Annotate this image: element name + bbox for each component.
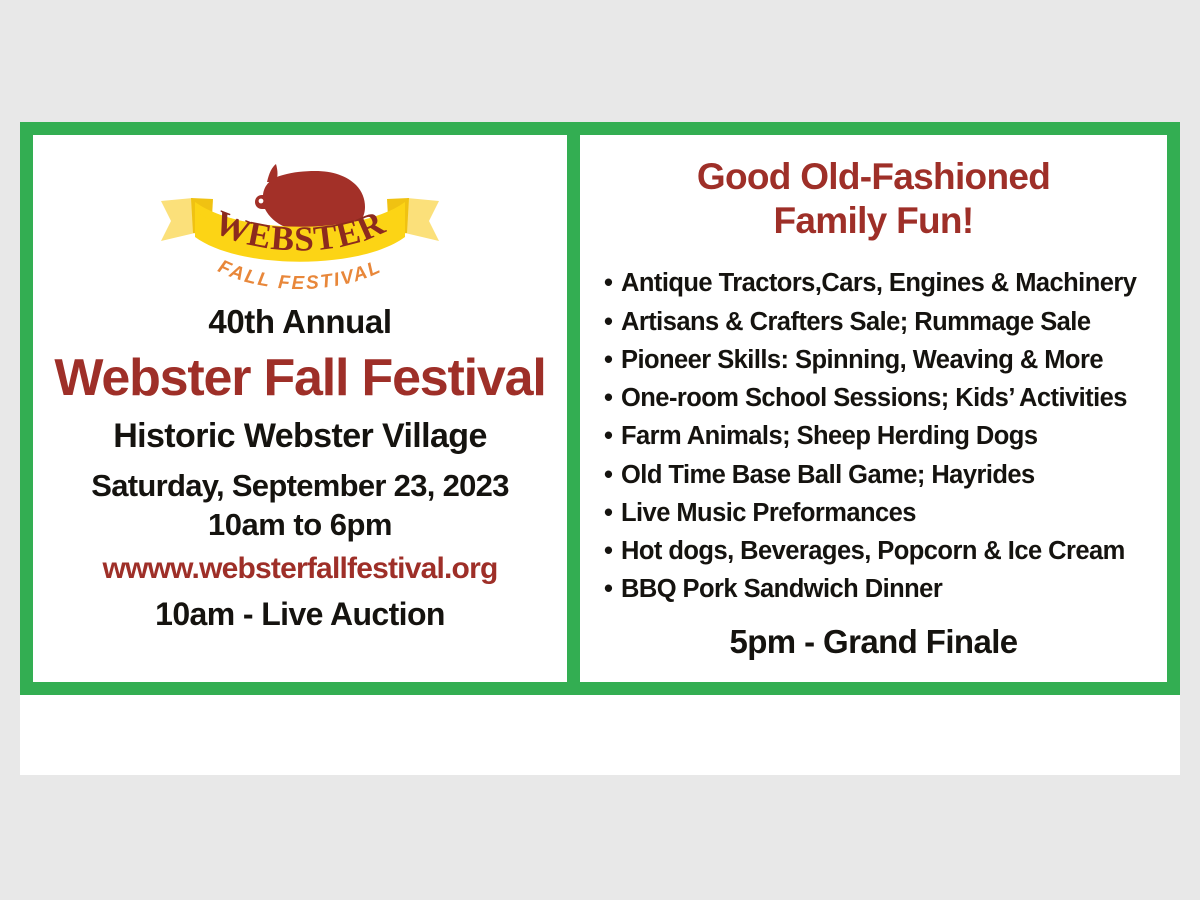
venue-label: Historic Webster Village [113,419,487,455]
list-item-label: One-room School Sessions; Kids’ Activiti… [621,384,1127,412]
list-item-label: Old Time Base Ball Game; Hayrides [621,461,1035,489]
list-item-label: Antique Tractors,Cars, Engines & Machine… [621,269,1136,297]
bullet-dot-icon: • [604,570,612,608]
festival-title: Webster Fall Festival [54,351,545,406]
flyer-left-panel: WEBSTER FALL FESTIVAL 40th Annual Webste… [33,135,567,682]
svg-text:FALL FESTIVAL: FALL FESTIVAL [215,256,385,294]
right-panel-headline: Good Old-Fashioned Family Fun! [592,155,1155,242]
bullet-dot-icon: • [604,341,612,379]
list-item: • Hot dogs, Beverages, Popcorn & Ice Cre… [602,532,1155,570]
attractions-list: • Antique Tractors,Cars, Engines & Machi… [592,264,1155,608]
festival-flyer: WEBSTER FALL FESTIVAL 40th Annual Webste… [20,122,1180,695]
bullet-dot-icon: • [604,303,612,341]
event-date: Saturday, September 23, 2023 [91,470,509,503]
live-auction-note: 10am - Live Auction [155,598,445,632]
list-item-label: Farm Animals; Sheep Herding Dogs [621,422,1037,450]
list-item: • Live Music Preformances [602,494,1155,532]
list-item-label: Pioneer Skills: Spinning, Weaving & More [621,346,1103,374]
headline-line-2: Family Fun! [592,199,1155,243]
flyer-right-panel: Good Old-Fashioned Family Fun! • Antique… [580,135,1167,682]
website-link[interactable]: wwww.websterfallfestival.org [103,553,498,585]
list-item: • Pioneer Skills: Spinning, Weaving & Mo… [602,341,1155,379]
list-item: • One-room School Sessions; Kids’ Activi… [602,379,1155,417]
list-item-label: BBQ Pork Sandwich Dinner [621,575,942,603]
event-time: 10am to 6pm [208,509,392,542]
bullet-dot-icon: • [604,532,612,570]
bullet-dot-icon: • [604,494,612,532]
annual-edition-label: 40th Annual [208,305,391,340]
list-item-label: Live Music Preformances [621,499,916,527]
grand-finale-note: 5pm - Grand Finale [592,623,1155,661]
list-item-label: Hot dogs, Beverages, Popcorn & Ice Cream [621,537,1125,565]
headline-line-1: Good Old-Fashioned [592,155,1155,199]
list-item: • Antique Tractors,Cars, Engines & Machi… [602,264,1155,302]
list-item: • Old Time Base Ball Game; Hayrides [602,456,1155,494]
list-item: • Artisans & Crafters Sale; Rummage Sale [602,303,1155,341]
bullet-dot-icon: • [604,456,612,494]
list-item: • Farm Animals; Sheep Herding Dogs [602,417,1155,455]
webster-fall-festival-logo: WEBSTER FALL FESTIVAL [155,149,445,301]
bullet-dot-icon: • [604,379,612,417]
bullet-dot-icon: • [604,264,612,302]
list-item: • BBQ Pork Sandwich Dinner [602,570,1155,608]
bullet-dot-icon: • [604,417,612,455]
list-item-label: Artisans & Crafters Sale; Rummage Sale [621,308,1090,336]
